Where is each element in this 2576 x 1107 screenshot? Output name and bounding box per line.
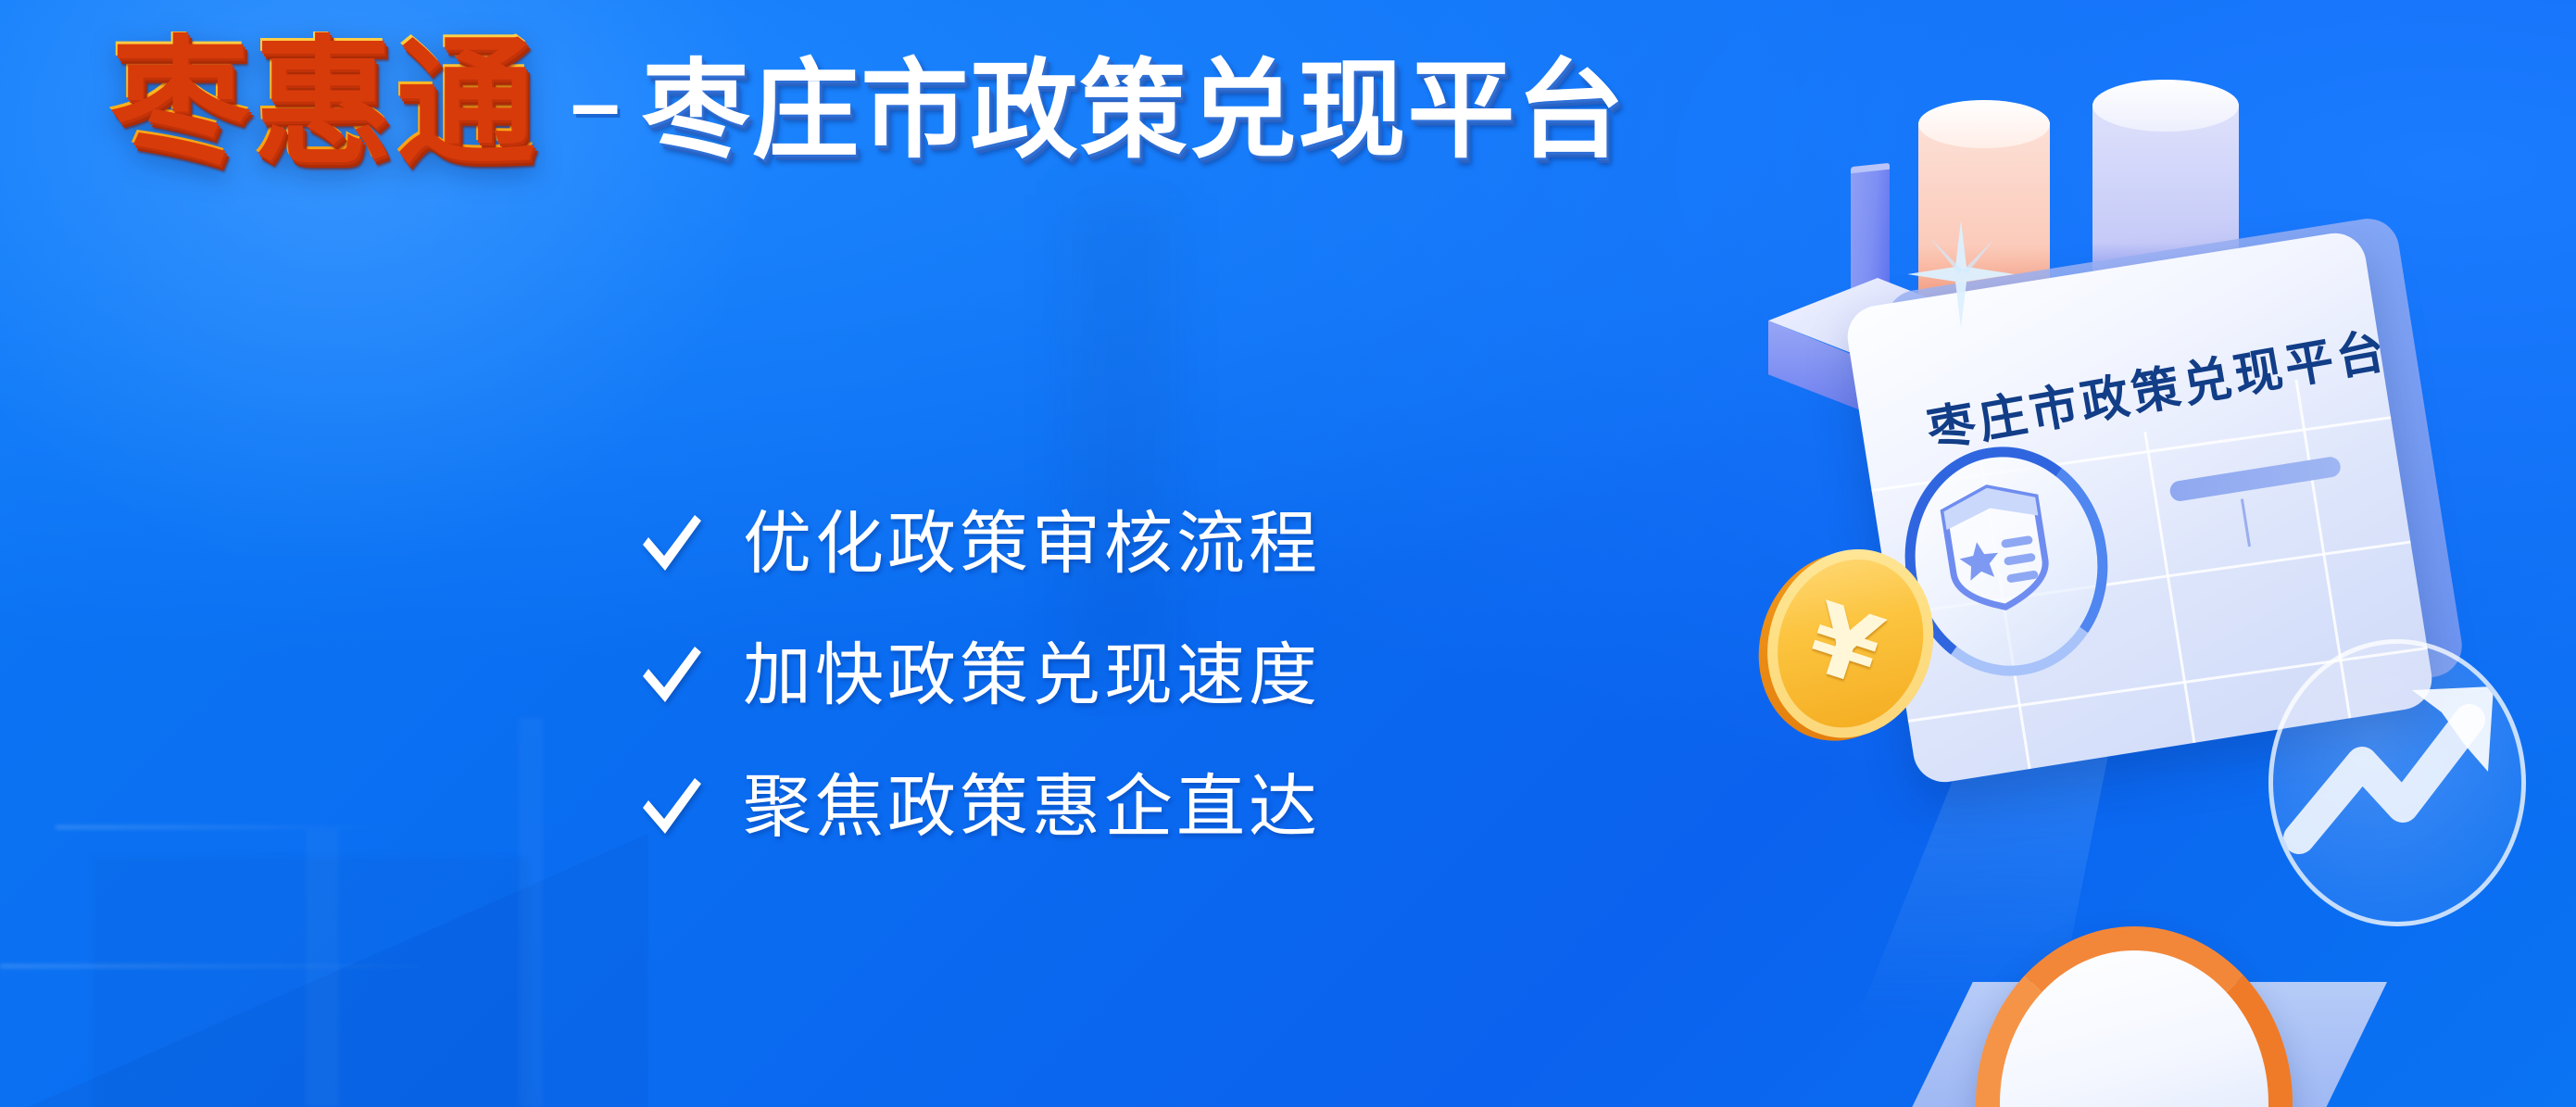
trend-up-arrow-icon (2268, 639, 2526, 926)
title-separator: – (571, 59, 620, 148)
policy-platform-banner: 枣惠通 – 枣庄市政策兑现平台 优化政策审核流程 加快政策兑现速度 (0, 0, 2576, 1107)
brand-name: 枣惠通 (109, 31, 543, 170)
feature-list: 优化政策审核流程 加快政策兑现速度 聚焦政策惠企直达 (639, 509, 1321, 904)
check-icon (639, 509, 704, 578)
list-item: 加快政策兑现速度 (639, 641, 1321, 710)
page-title: 枣庄市政策兑现平台 (642, 57, 1626, 165)
banner-illustration: 枣庄市政策兑现平台 ¥ (1742, 0, 2576, 1107)
card-title: 枣庄市政策兑现平台 (1921, 317, 2362, 460)
feature-label: 加快政策兑现速度 (743, 641, 1321, 710)
check-icon (639, 773, 704, 841)
feature-label: 聚焦政策惠企直达 (743, 773, 1321, 841)
shield-star-badge-icon (1933, 474, 2059, 619)
check-icon (639, 641, 704, 710)
banner-title-row: 枣惠通 – 枣庄市政策兑现平台 (109, 31, 1626, 170)
list-item: 聚焦政策惠企直达 (639, 773, 1321, 841)
background-light-streak-2 (56, 825, 389, 829)
sparkle-icon (1905, 219, 2017, 330)
background-tower-left (306, 829, 339, 1107)
background-tower-right (519, 718, 543, 1107)
card-tick-mark (2241, 498, 2251, 547)
list-item: 优化政策审核流程 (639, 509, 1321, 578)
feature-label: 优化政策审核流程 (743, 509, 1321, 578)
background-light-streak-1 (0, 964, 445, 968)
